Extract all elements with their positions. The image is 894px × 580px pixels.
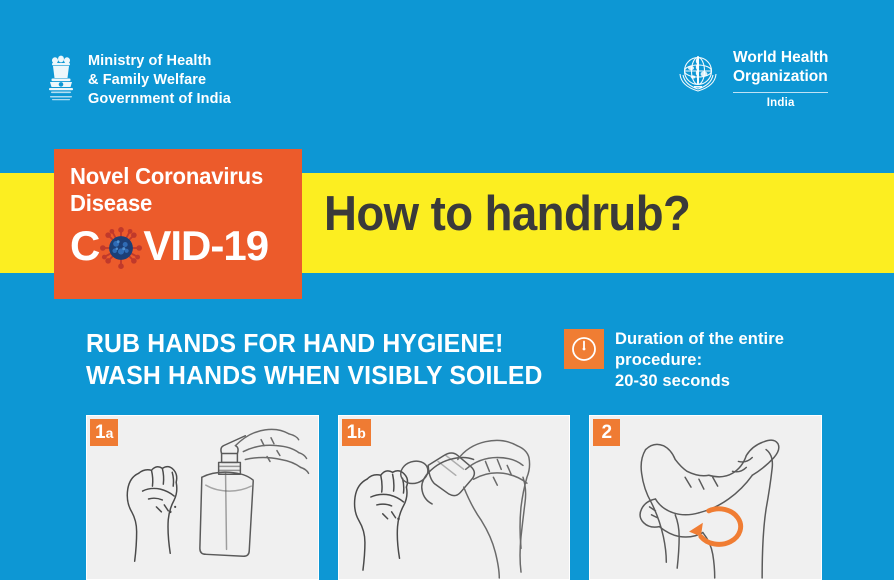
who-logo: World Health Organization India	[672, 48, 828, 109]
step-sub: b	[357, 426, 366, 440]
who-line-1: World Health	[733, 48, 828, 67]
header: Ministry of Health & Family Welfare Gove…	[0, 0, 894, 173]
step-panels: 1a	[86, 415, 822, 580]
step-illustration-1b	[339, 416, 570, 579]
clock-icon-box	[564, 329, 604, 369]
ministry-line-1: Ministry of Health	[88, 52, 231, 71]
instruction-text: RUB HANDS FOR HAND HYGIENE! WASH HANDS W…	[86, 328, 543, 392]
who-globe-laurel-icon	[672, 48, 724, 100]
covid-badge: Novel Coronavirus Disease C	[54, 149, 302, 299]
covid-suffix: VID-19	[143, 225, 268, 267]
who-line-2: Organization	[733, 67, 828, 86]
step-sub: a	[106, 426, 114, 440]
covid-badge-line-1: Novel Coronavirus	[70, 163, 293, 190]
step-number: 1	[95, 423, 106, 442]
clock-timer-icon	[570, 335, 598, 363]
pump-dispenser-into-cupped-hand-icon	[87, 416, 318, 579]
duration-line-2: procedure:	[615, 350, 784, 371]
covid-badge-line-2: Disease	[70, 190, 293, 217]
step-panel-1b: 1b	[338, 415, 571, 580]
instruction-line-1: RUB HANDS FOR HAND HYGIENE!	[86, 328, 543, 360]
step-badge-1b: 1b	[342, 419, 371, 446]
covid-19-wordmark: C	[70, 225, 302, 267]
who-divider	[733, 92, 828, 93]
step-badge-2: 2	[593, 419, 620, 446]
instruction-line-2: WASH HANDS WHEN VISIBLY SOILED	[86, 360, 543, 392]
step-number: 1	[347, 423, 358, 442]
squeeze-bottle-pour-into-hand-icon	[339, 416, 570, 579]
step-illustration-2	[590, 416, 821, 579]
step-panel-2: 2	[589, 415, 822, 580]
coronavirus-particle-icon	[100, 227, 142, 269]
ministry-of-health-logo: Ministry of Health & Family Welfare Gove…	[44, 52, 231, 109]
india-state-emblem-icon	[44, 52, 78, 106]
page-title: How to handrub?	[324, 190, 690, 239]
step-panel-1a: 1a	[86, 415, 319, 580]
duration-block: Duration of the entire procedure: 20-30 …	[564, 329, 784, 392]
ministry-line-3: Government of India	[88, 90, 231, 109]
step-number: 2	[602, 423, 613, 442]
covid-prefix: C	[70, 225, 99, 267]
palm-to-palm-rub-icon	[590, 416, 821, 579]
step-illustration-1a	[87, 416, 318, 579]
ministry-line-2: & Family Welfare	[88, 71, 231, 90]
duration-line-1: Duration of the entire	[615, 329, 784, 350]
duration-text: Duration of the entire procedure: 20-30 …	[615, 329, 784, 392]
duration-line-3: 20-30 seconds	[615, 371, 784, 392]
who-country: India	[733, 97, 828, 109]
who-name-block: World Health Organization India	[733, 48, 828, 109]
step-badge-1a: 1a	[90, 419, 118, 446]
infographic-poster: Ministry of Health & Family Welfare Gove…	[0, 0, 894, 580]
ministry-name: Ministry of Health & Family Welfare Gove…	[88, 52, 231, 109]
